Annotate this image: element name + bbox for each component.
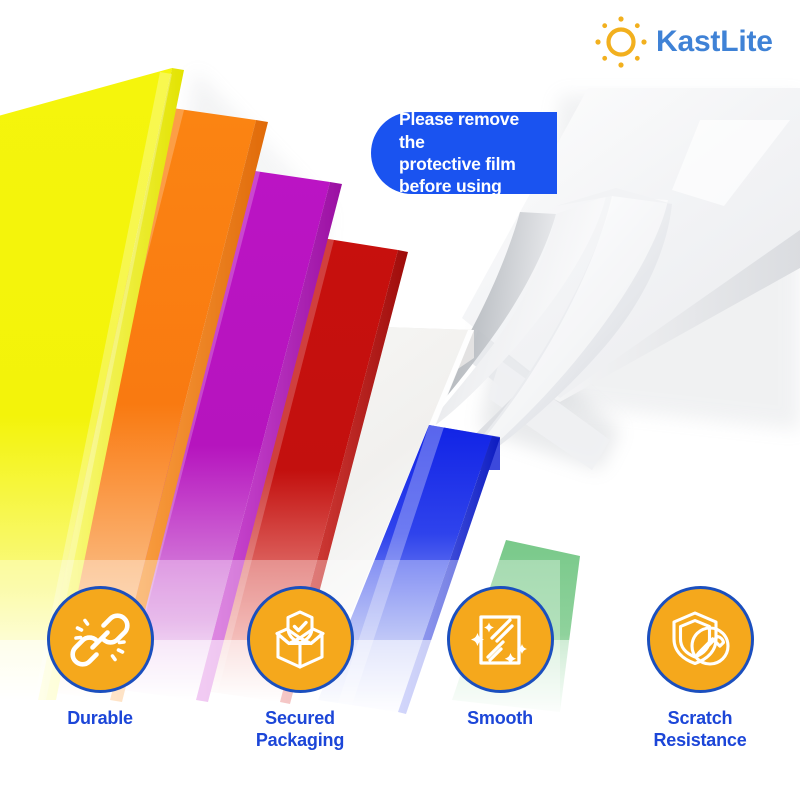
- callout-line-3: before using: [399, 175, 547, 197]
- feature-durable: Durable: [0, 586, 200, 766]
- feature-icon-circle: [447, 586, 554, 693]
- feature-label: Scratch Resistance: [653, 708, 746, 752]
- feature-icon-circle: [647, 586, 754, 693]
- feature-icon-circle: [47, 586, 154, 693]
- feature-badges: Durable: [0, 586, 800, 766]
- brand-name: KastLite: [656, 27, 773, 57]
- feature-label: Smooth: [467, 708, 533, 730]
- feature-label: Durable: [67, 708, 133, 730]
- feature-smooth: Smooth: [400, 586, 600, 766]
- feature-label-line-1: Secured: [256, 708, 344, 730]
- protective-film-callout: Please remove the protective film before…: [371, 112, 557, 194]
- sparkle-panel-icon: [465, 605, 535, 675]
- feature-label-line-2: Packaging: [256, 730, 344, 752]
- feature-label-line-2: Resistance: [653, 730, 746, 752]
- feature-label: Secured Packaging: [256, 708, 344, 752]
- sun-icon: [592, 14, 650, 70]
- callout-line-1: Please remove the: [399, 108, 547, 153]
- feature-label-line-1: Scratch: [653, 708, 746, 730]
- brand-logo: KastLite: [592, 14, 782, 70]
- callout-text: Please remove the protective film before…: [399, 108, 547, 198]
- feature-secured-packaging: Secured Packaging: [200, 586, 400, 766]
- callout-line-2: protective film: [399, 153, 547, 175]
- chain-link-icon: [65, 605, 135, 675]
- secure-box-shield-icon: [265, 605, 335, 675]
- feature-scratch-resistance: Scratch Resistance: [600, 586, 800, 766]
- product-marketing-image: KastLite Please remove the protective fi…: [0, 0, 800, 800]
- feature-icon-circle: [247, 586, 354, 693]
- shield-knife-icon: [665, 605, 735, 675]
